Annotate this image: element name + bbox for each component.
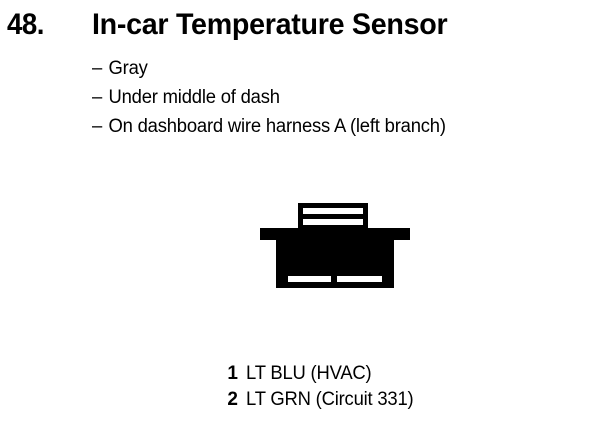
- attribute-item-harness: –On dashboard wire harness A (left branc…: [92, 114, 587, 143]
- pin-number: 1: [196, 362, 238, 386]
- connector-cavity-divider: [331, 228, 337, 288]
- attribute-item-color: –Gray: [92, 56, 587, 85]
- pin-description: LT GRN (Circuit 331): [246, 388, 413, 412]
- dash-bullet-icon: –: [92, 56, 108, 81]
- attribute-list: –Gray –Under middle of dash –On dashboar…: [92, 56, 602, 143]
- item-number: 48.: [7, 8, 44, 42]
- page-heading: 48. In-car Temperature Sensor: [0, 2, 608, 46]
- pin-legend-row: 2 LT GRN (Circuit 331): [0, 388, 608, 414]
- connector-diagram: 1 2: [250, 196, 420, 308]
- pin-legend-row: 1 LT BLU (HVAC): [0, 362, 608, 388]
- pin-description: LT BLU (HVAC): [246, 362, 371, 386]
- attribute-text: On dashboard wire harness A (left branch…: [108, 116, 445, 137]
- dash-bullet-icon: –: [92, 85, 108, 110]
- attribute-text: Gray: [108, 58, 147, 79]
- pin-legend: 1 LT BLU (HVAC) 2 LT GRN (Circuit 331): [0, 362, 608, 414]
- cavity-label-1: 1: [304, 246, 315, 267]
- connector-illustration: 1 2: [250, 196, 420, 308]
- connector-locking-tab: [298, 203, 368, 229]
- attribute-text: Under middle of dash: [108, 87, 279, 108]
- dash-bullet-icon: –: [92, 114, 108, 139]
- pin-number: 2: [196, 388, 238, 412]
- page-title: In-car Temperature Sensor: [92, 8, 447, 42]
- attribute-item-location: –Under middle of dash: [92, 85, 587, 114]
- cavity-label-2: 2: [359, 246, 370, 267]
